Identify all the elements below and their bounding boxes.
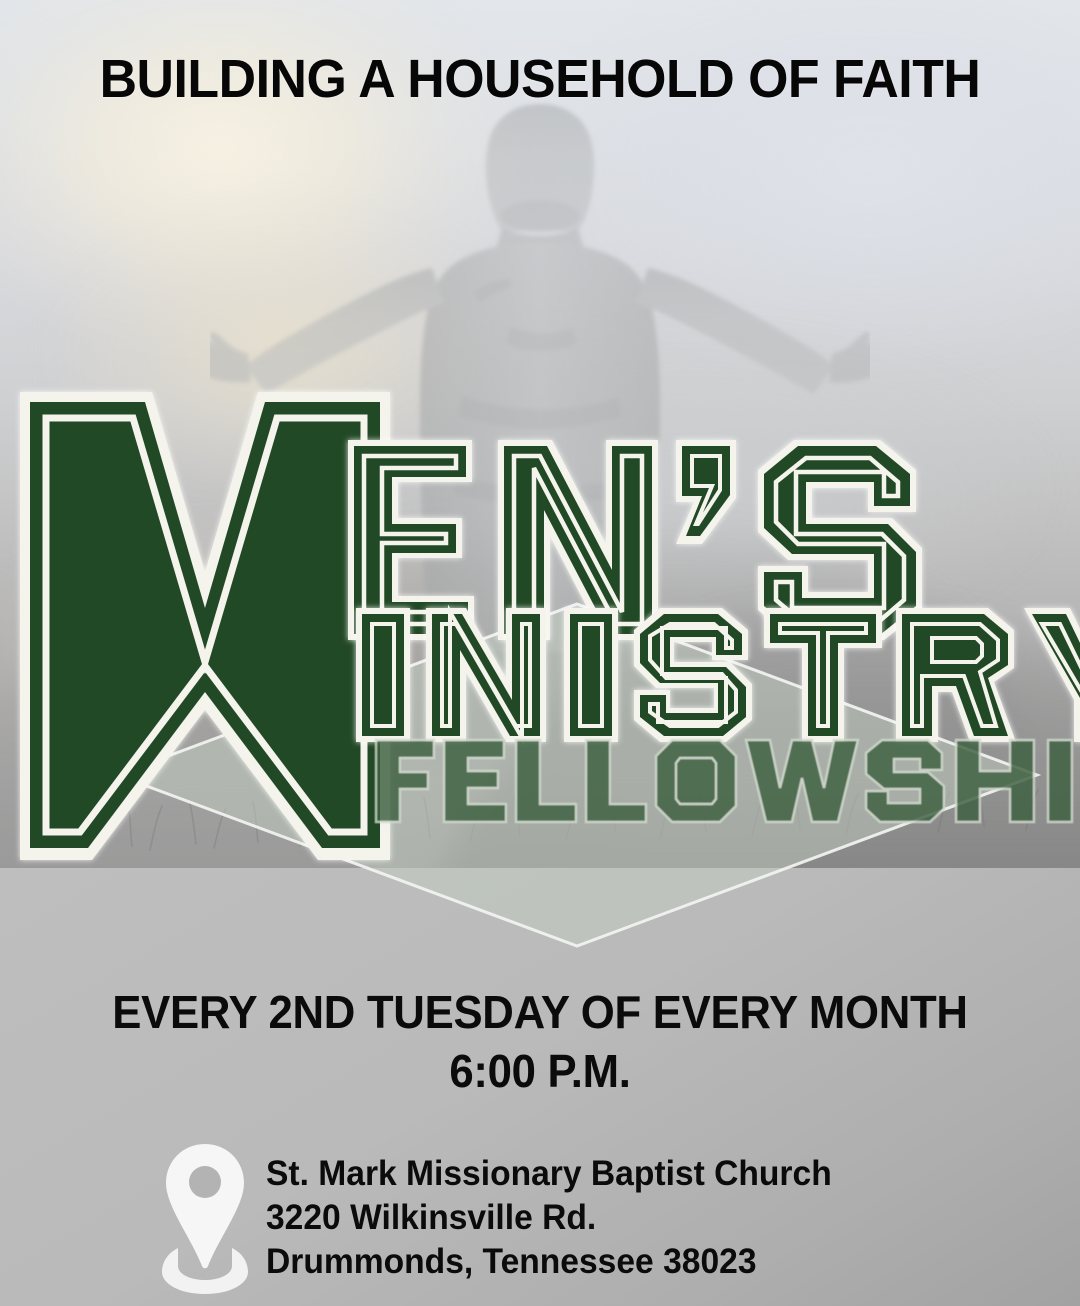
- mens-ministry-logo: .gfill { fill: #234A26; } .ink { fill: n…: [0, 380, 1080, 880]
- logo-word-fellowship: [376, 740, 1080, 822]
- page-title: BUILDING A HOUSEHOLD OF FAITH: [22, 48, 1059, 110]
- venue-name: St. Mark Missionary Baptist Church: [266, 1152, 832, 1196]
- address-lines: St. Mark Missionary Baptist Church 3220 …: [266, 1142, 832, 1284]
- street-address: 3220 Wilkinsville Rd.: [266, 1196, 832, 1240]
- logo-artwork: .gfill { fill: #234A26; } .ink { fill: n…: [0, 380, 1080, 880]
- logo-letter-M: [20, 392, 390, 860]
- map-pin-icon: [162, 1144, 248, 1294]
- city-state-zip: Drummonds, Tennessee 38023: [266, 1240, 832, 1284]
- schedule-frequency: EVERY 2ND TUESDAY OF EVERY MONTH: [27, 988, 1053, 1037]
- schedule-time: 6:00 P.M.: [27, 1047, 1053, 1096]
- logo-letters-INISTRY: [356, 608, 1080, 742]
- location-block: St. Mark Missionary Baptist Church 3220 …: [162, 1142, 962, 1294]
- schedule-block: EVERY 2ND TUESDAY OF EVERY MONTH 6:00 P.…: [0, 988, 1080, 1096]
- flyer-canvas: BUILDING A HOUSEHOLD OF FAITH .gfill { f…: [0, 0, 1080, 1306]
